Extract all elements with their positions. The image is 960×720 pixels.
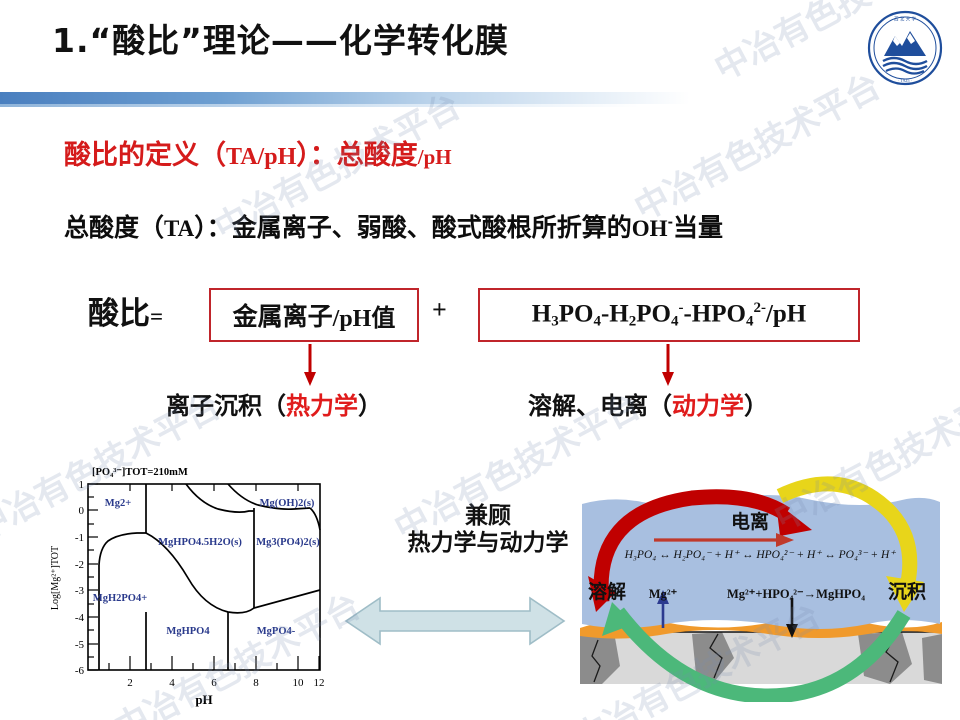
- acid-ratio-text: 酸比: [88, 296, 150, 332]
- equation-ionization: H₃PO₄ ↔ H₂PO₄⁻ + H⁺ ↔ HPO₄²⁻ + H⁺ ↔ PO₄³…: [624, 549, 897, 561]
- outcome-label-left: 离子沉积（热力学）: [166, 386, 382, 421]
- outcome-right-red: 动力学: [672, 392, 744, 420]
- outcome-right-a: 溶解、电离（: [528, 392, 672, 420]
- hpo4-sup: 2-: [753, 300, 766, 316]
- outcome-label-right: 溶解、电离（动力学）: [528, 386, 768, 421]
- metal-ion-unit: /pH值: [333, 298, 396, 333]
- phosphate-formula: H3PO4-H2PO4--HPO42-/pH: [532, 300, 806, 330]
- chart-ylabel: Log[Mg²⁺]TOT: [50, 546, 61, 610]
- header-rule-secondary: [0, 104, 640, 107]
- university-logo: · 1925 · 西 北 大 学: [862, 8, 948, 88]
- down-arrow-left: [302, 344, 318, 388]
- outcome-left-b: ）: [358, 392, 382, 420]
- h2po4-h: H: [609, 300, 628, 327]
- svg-text:-6: -6: [75, 665, 85, 677]
- svg-text:6: 6: [211, 677, 217, 689]
- region-label-mgh2po4: MgH2PO4+: [93, 593, 147, 604]
- svg-text:1: 1: [79, 479, 85, 491]
- definition-line: 酸比的定义（TA/pH）：总酸度/pH: [64, 133, 452, 172]
- down-arrow-right: [660, 344, 676, 388]
- label-deposit: 沉积: [888, 581, 926, 603]
- dash-2: -: [683, 300, 691, 327]
- region-label-mg2plus: Mg2+: [105, 498, 131, 509]
- outcome-right-b: ）: [744, 392, 768, 420]
- region-label-mg3po42: Mg3(PO4)2(s): [256, 537, 320, 548]
- definition-middle: ）：总酸度: [296, 140, 418, 171]
- outcome-left-a: 离子沉积（: [166, 392, 286, 420]
- label-dissolve: 溶解: [588, 580, 626, 603]
- ta-abbr: TA: [164, 216, 194, 241]
- h3po4-h: H: [532, 300, 551, 327]
- svg-text:0: 0: [79, 505, 85, 517]
- h3po4-sub2: 4: [593, 313, 601, 329]
- total-acidity-line: 总酸度（TA）：金属离子、弱酸、酸式酸根所折算的OH-当量: [64, 208, 723, 244]
- per-ph: /pH: [766, 300, 806, 327]
- definition-prefix: 酸比的定义（: [64, 140, 226, 171]
- h3po4-po: PO: [559, 300, 594, 327]
- outcome-left-red: 热力学: [286, 392, 358, 420]
- svg-text:8: 8: [253, 677, 259, 689]
- svg-text:-3: -3: [75, 585, 85, 597]
- label-mg-ion: Mg²⁺: [649, 587, 678, 601]
- svg-text:· 1925 ·: · 1925 ·: [898, 78, 913, 83]
- region-label-mgpo4: MgPO4-: [257, 626, 296, 637]
- metal-ion-box[interactable]: 金属离子/pH值: [209, 288, 419, 342]
- hpo4-h: HPO: [692, 300, 746, 327]
- watermark-text: 中冶有色技术平台: [624, 59, 887, 230]
- definition-formula: TA/pH: [226, 144, 296, 170]
- middle-caption: 兼顾 热力学与动力学: [398, 503, 578, 557]
- ta-suffix: 当量: [673, 213, 723, 242]
- middle-caption-line1: 兼顾: [398, 503, 578, 530]
- chart-annotation: [PO₄³⁻]TOT=210mM: [92, 467, 188, 478]
- svg-text:西 北 大 学: 西 北 大 学: [894, 16, 916, 23]
- phosphate-box[interactable]: H3PO4-H2PO4--HPO42-/pH: [478, 288, 860, 342]
- svg-text:-4: -4: [75, 612, 85, 624]
- chart-xlabel: pH: [195, 692, 212, 707]
- label-ionize: 电离: [731, 510, 769, 533]
- h3po4-sub: 3: [551, 313, 559, 329]
- mechanism-illustration: 电离 溶解 沉积 H₃PO₄ ↔ H₂PO₄⁻ + H⁺ ↔ HPO₄²⁻ + …: [572, 452, 950, 702]
- equals-sign: =: [150, 304, 163, 329]
- svg-text:2: 2: [127, 677, 133, 689]
- ta-prefix: 总酸度（: [64, 213, 164, 242]
- region-label-mgoh2: Mg(OH)2(s): [260, 498, 315, 509]
- region-label-mghpo4-5h2o: MgHPO4.5H2O(s): [158, 537, 242, 548]
- header-rule: [0, 92, 690, 104]
- svg-text:10: 10: [293, 677, 305, 689]
- ta-species: OH: [632, 216, 668, 241]
- h2po4-po: PO: [636, 300, 671, 327]
- double-headed-arrow: [344, 592, 566, 650]
- page-title: 1.“酸比”理论——化学转化膜: [52, 14, 509, 62]
- definition-suffix: /pH: [418, 145, 452, 169]
- acid-ratio-label: 酸比=: [88, 288, 163, 333]
- metal-ion-text: 金属离子: [233, 297, 333, 333]
- svg-text:-2: -2: [75, 559, 84, 571]
- svg-text:-5: -5: [75, 639, 85, 651]
- region-label-mghpo4: MgHPO4: [166, 626, 210, 637]
- equation-precipitation: Mg²⁺+HPO₄²⁻→MgHPO₄: [727, 587, 865, 601]
- svg-text:12: 12: [314, 677, 325, 689]
- slide-root: 1.“酸比”理论——化学转化膜 · 1925 · 西 北 大 学 酸比的定义（T…: [0, 0, 960, 720]
- phase-diagram: 2 4 6 8 10 12 1 0 -1 -2 -3 -4 -5 -6 pH L…: [42, 448, 342, 710]
- svg-text:-1: -1: [75, 532, 84, 544]
- middle-caption-line2: 热力学与动力学: [398, 530, 578, 557]
- ta-middle: ）：金属离子、弱酸、酸式酸根所折算的: [194, 213, 632, 242]
- svg-text:4: 4: [169, 677, 175, 689]
- plus-sign: +: [432, 295, 447, 325]
